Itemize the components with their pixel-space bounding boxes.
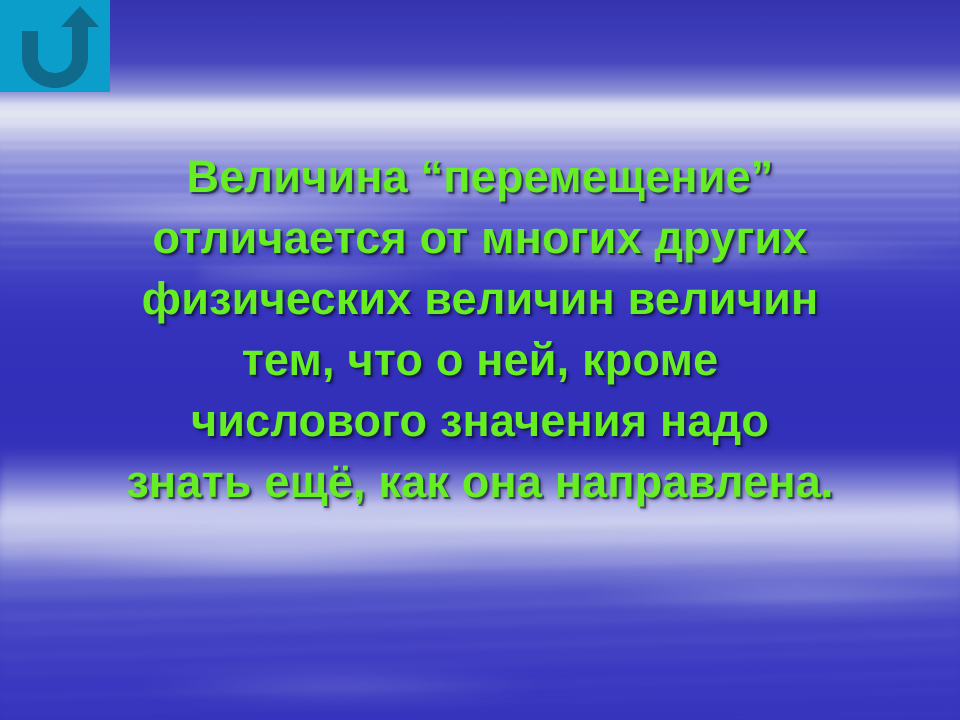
background-streaks-lower [0,500,960,720]
body-text-line-1: Величина “перемещение” [0,146,960,207]
return-button[interactable] [0,0,110,92]
u-turn-arrow-icon [0,0,110,92]
body-text-line-6: знать ещё, как она направлена. [0,451,960,512]
presentation-slide: Величина “перемещение” отличается от мно… [0,0,960,720]
body-text-line-2: отличается от многих других [0,207,960,268]
body-text-line-3: физических величин величин [0,268,960,329]
body-text-line-5: числового значения надо [0,390,960,451]
background-cloud-lower-right [380,548,960,648]
body-text-line-4: тем, что о ней, кроме [0,329,960,390]
slide-body-text: Величина “перемещение” отличается от мно… [0,146,960,512]
background-cloud-lower-left [0,520,680,610]
background-cloud-bottom [40,640,660,720]
